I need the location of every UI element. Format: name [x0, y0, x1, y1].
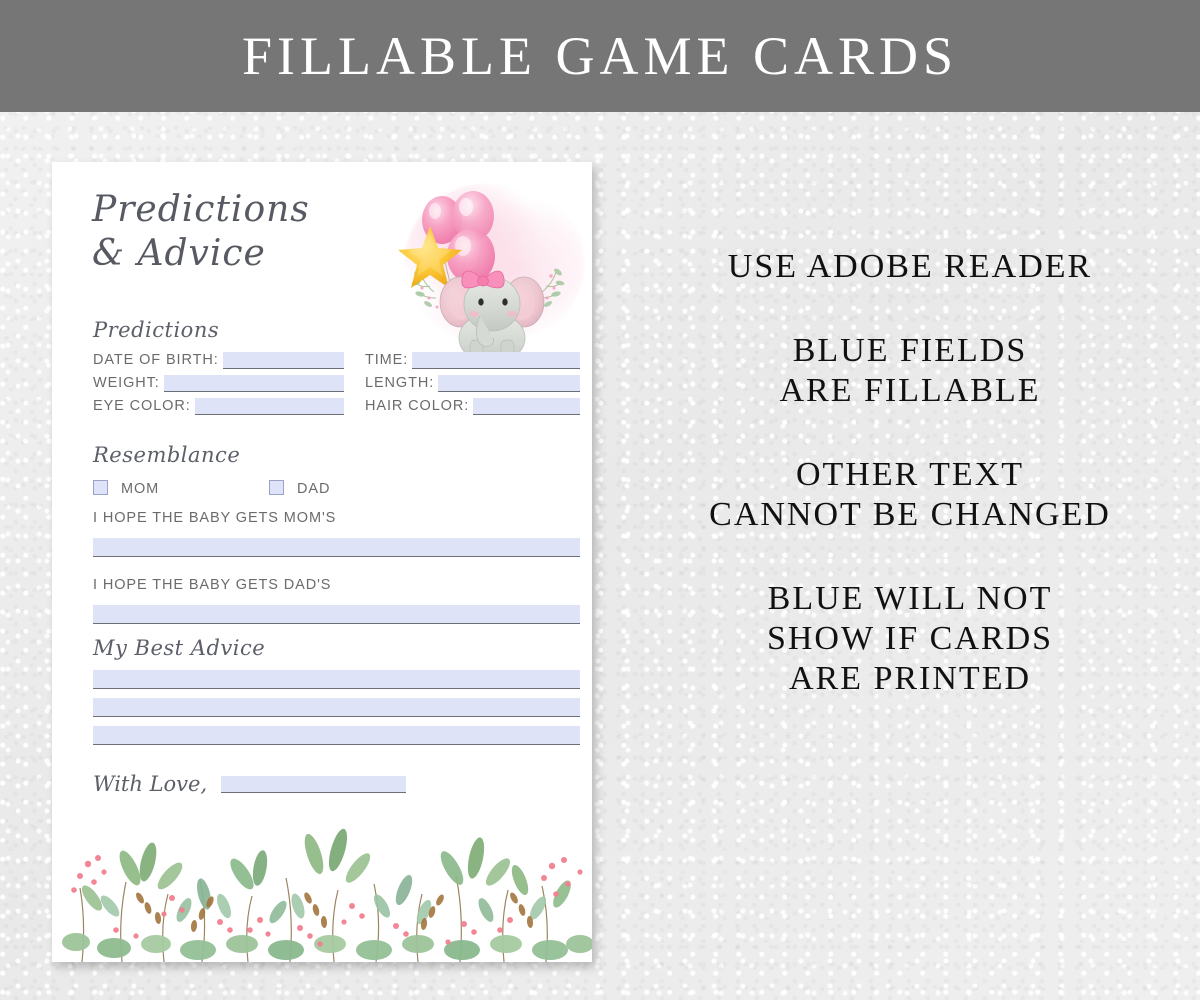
section-heading-predictions: Predictions [93, 318, 219, 342]
input-advice-line-3[interactable] [93, 726, 580, 745]
input-time[interactable] [412, 352, 580, 369]
instruction-line-1: USE ADOBE READER [650, 250, 1170, 284]
header-bar: FILLABLE GAME CARDS [0, 0, 1200, 112]
input-hair-color[interactable] [473, 398, 580, 415]
input-weight[interactable] [164, 375, 344, 392]
label-mom: MOM [121, 481, 159, 497]
greenery-border-svg [52, 802, 592, 962]
card-title: Predictions & Advice [92, 188, 422, 276]
input-eye-color[interactable] [195, 398, 344, 415]
input-hope-dad[interactable] [93, 605, 580, 624]
field-row-hair-color: HAIR COLOR: [365, 398, 580, 415]
input-length[interactable] [438, 375, 580, 392]
label-dad: DAD [297, 481, 330, 497]
label-weight: WEIGHT: [93, 375, 160, 392]
instruction-line-8: ARE PRINTED [650, 662, 1170, 696]
page-title: FILLABLE GAME CARDS [242, 25, 958, 87]
section-heading-resemblance: Resemblance [93, 443, 240, 467]
label-date-of-birth: DATE OF BIRTH: [93, 352, 219, 369]
instruction-line-7: SHOW IF CARDS [650, 622, 1170, 656]
label-eye-color: EYE COLOR: [93, 398, 191, 415]
field-row-length: LENGTH: [365, 375, 580, 392]
floral-border [52, 802, 592, 962]
label-length: LENGTH: [365, 375, 434, 392]
input-with-love[interactable] [221, 776, 406, 793]
checkbox-dad[interactable] [269, 480, 284, 495]
label-hair-color: HAIR COLOR: [365, 398, 469, 415]
input-advice-line-1[interactable] [93, 670, 580, 689]
instructions-block: USE ADOBE READER BLUE FIELDS ARE FILLABL… [650, 250, 1170, 696]
checkbox-mom[interactable] [93, 480, 108, 495]
instruction-line-6: BLUE WILL NOT [650, 582, 1170, 616]
field-row-eye-color: EYE COLOR: [93, 398, 344, 415]
section-heading-advice: My Best Advice [93, 636, 265, 660]
card-title-line1: Predictions [92, 189, 310, 230]
label-with-love: With Love, [93, 774, 207, 795]
instruction-line-4: OTHER TEXT [650, 458, 1170, 492]
instruction-line-5: CANNOT BE CHANGED [650, 498, 1170, 532]
game-card: Predictions & Advice Predictions DATE OF… [52, 162, 592, 962]
field-row-weight: WEIGHT: [93, 375, 344, 392]
with-love-row: With Love, [93, 774, 406, 795]
input-hope-mom[interactable] [93, 538, 580, 557]
label-hope-dad: I HOPE THE BABY GETS DAD'S [93, 577, 331, 593]
instruction-line-2: BLUE FIELDS [650, 334, 1170, 368]
instruction-line-3: ARE FILLABLE [650, 374, 1170, 408]
input-date-of-birth[interactable] [223, 352, 344, 369]
card-title-line2: & Advice [92, 232, 422, 276]
input-advice-line-2[interactable] [93, 698, 580, 717]
field-row-time: TIME: [365, 352, 580, 369]
label-hope-mom: I HOPE THE BABY GETS MOM'S [93, 510, 336, 526]
label-time: TIME: [365, 352, 408, 369]
field-row-date-of-birth: DATE OF BIRTH: [93, 352, 344, 369]
resemblance-checkbox-row: MOM DAD [93, 478, 393, 500]
